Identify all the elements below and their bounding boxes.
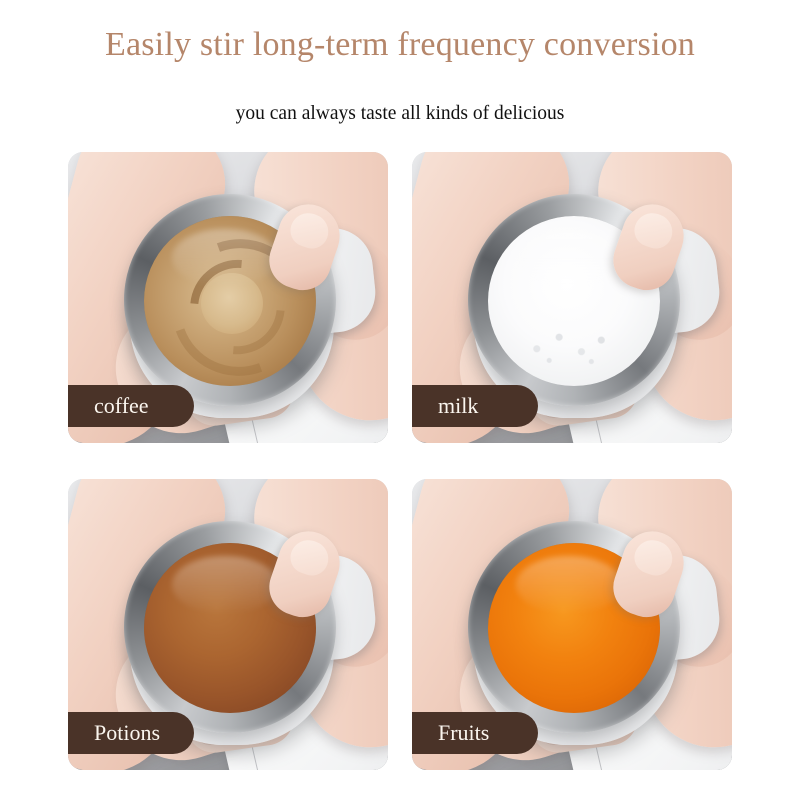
page-headline: Easily stir long-term frequency conversi… <box>0 26 800 64</box>
photo-panel-fruits[interactable]: Fruits <box>412 479 732 770</box>
milk-froth-bubbles <box>512 314 636 372</box>
product-feature-page: Easily stir long-term frequency conversi… <box>0 0 800 800</box>
badge-milk: milk <box>412 385 538 427</box>
liquid-highlight <box>172 229 279 287</box>
page-subheadline: you can always taste all kinds of delici… <box>0 103 800 125</box>
photo-panel-milk[interactable]: milk <box>412 152 732 443</box>
badge-fruits: Fruits <box>412 712 538 754</box>
photo-panel-potions[interactable]: Potions <box>68 479 388 770</box>
beverage-photo-grid: coffee milk <box>68 152 732 770</box>
badge-potions: Potions <box>68 712 194 754</box>
photo-panel-coffee[interactable]: coffee <box>68 152 388 443</box>
liquid-highlight <box>172 556 279 614</box>
liquid-highlight <box>516 556 623 614</box>
liquid-highlight <box>516 229 623 287</box>
badge-coffee: coffee <box>68 385 194 427</box>
